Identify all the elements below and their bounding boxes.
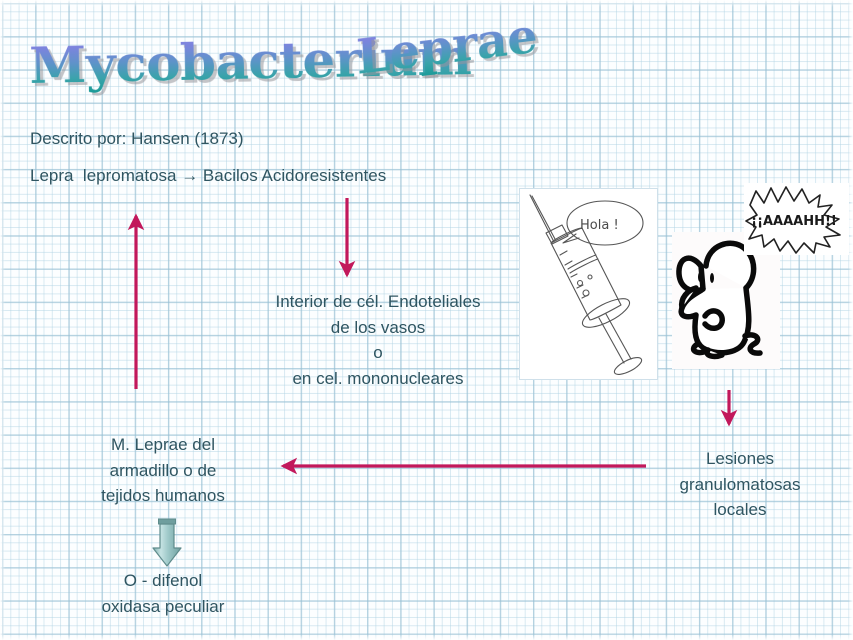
syringe-speech-text: Hola ! [580,218,619,233]
syringe-drawing: Hola ! [520,189,657,379]
scream-burst: ¡¡AAAAHH!! [744,183,849,255]
text-lesiones-granulomatosas: Lesiones granulomatosas locales [640,446,840,523]
scream-text: ¡¡AAAAHH!! [751,214,837,229]
text-interior-celulas: Interior de cél. Endoteliales de los vas… [228,289,528,391]
text-lepra-lepromatosa: Lepra lepromatosa → Bacilos Acidoresiste… [30,163,386,188]
slide-canvas: Mycobacterium Leprae Descrito por: Hanse… [0,0,853,640]
text-o-difenol-oxidasa: O - difenol oxidasa peculiar [63,568,263,619]
scream-burst-panel: ¡¡AAAAHH!! [744,183,849,255]
text-m-leprae-armadillo: M. Leprae del armadillo o de tejidos hum… [63,432,263,509]
syringe-clipart-panel: Hola ! [519,188,658,380]
text-descrito-por: Descrito por: Hansen (1873) [30,126,244,151]
